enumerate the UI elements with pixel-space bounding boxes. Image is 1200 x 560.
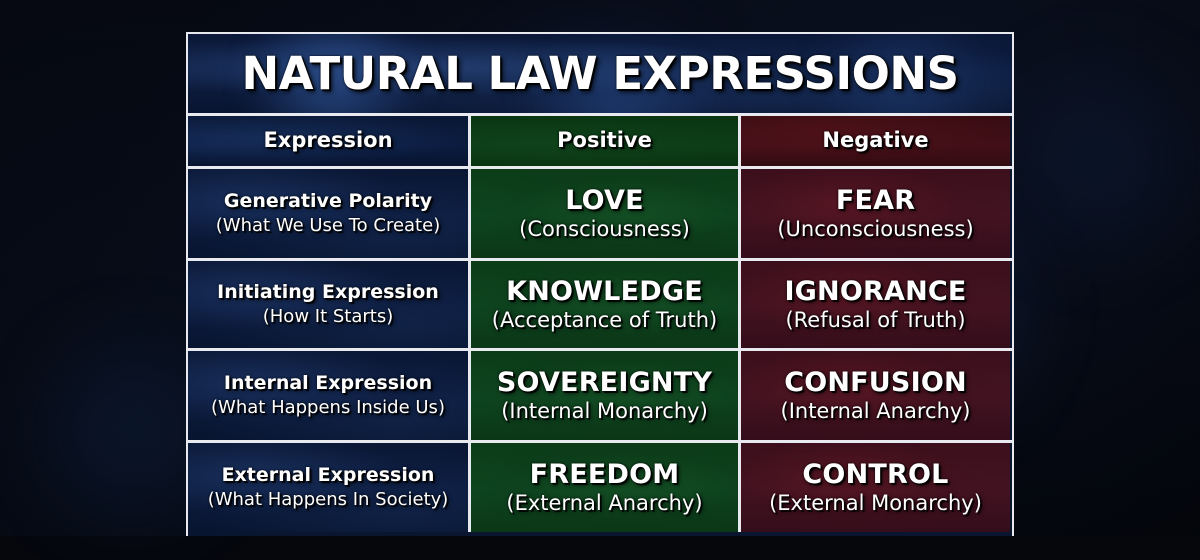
cell-expression: Generative Polarity (What We Use To Crea…: [188, 169, 468, 258]
expression-description: (What Happens Inside Us): [211, 398, 445, 418]
negative-term: CONFUSION: [784, 368, 967, 398]
column-header-expression: Expression: [188, 116, 468, 166]
table-row: Internal Expression (What Happens Inside…: [188, 348, 1012, 440]
table-header-row: Expression Positive Negative: [188, 116, 1012, 166]
negative-description: (Internal Anarchy): [781, 400, 971, 424]
cell-positive: FREEDOM (External Anarchy): [468, 443, 738, 532]
negative-description: (Unconsciousness): [777, 218, 973, 242]
positive-description: (External Anarchy): [506, 492, 702, 516]
expression-name: Internal Expression: [224, 373, 432, 394]
table-row: Generative Polarity (What We Use To Crea…: [188, 166, 1012, 258]
column-header-negative: Negative: [738, 116, 1010, 166]
cell-positive: KNOWLEDGE (Acceptance of Truth): [468, 261, 738, 348]
page-title: NATURAL LAW EXPRESSIONS: [241, 47, 958, 100]
expression-name: Initiating Expression: [217, 282, 439, 303]
cell-expression: External Expression (What Happens In Soc…: [188, 443, 468, 532]
cell-positive: SOVEREIGNTY (Internal Monarchy): [468, 351, 738, 440]
expression-name: External Expression: [222, 465, 435, 486]
table-row: Initiating Expression (How It Starts) KN…: [188, 258, 1012, 348]
positive-term: KNOWLEDGE: [506, 277, 703, 307]
expression-description: (How It Starts): [263, 307, 393, 327]
cell-negative: CONFUSION (Internal Anarchy): [738, 351, 1010, 440]
natural-law-table: NATURAL LAW EXPRESSIONS Expression Posit…: [186, 32, 1014, 536]
column-header-expression-label: Expression: [263, 129, 392, 153]
negative-description: (External Monarchy): [769, 492, 982, 516]
positive-term: SOVEREIGNTY: [497, 368, 712, 398]
column-header-positive: Positive: [468, 116, 738, 166]
cell-negative: FEAR (Unconsciousness): [738, 169, 1010, 258]
expression-description: (What Happens In Society): [208, 490, 449, 510]
column-header-negative-label: Negative: [822, 129, 928, 153]
positive-term: FREEDOM: [530, 460, 680, 490]
positive-description: (Acceptance of Truth): [492, 309, 717, 333]
positive-description: (Internal Monarchy): [501, 400, 708, 424]
negative-term: FEAR: [836, 186, 915, 216]
column-header-positive-label: Positive: [557, 129, 652, 153]
positive-description: (Consciousness): [519, 218, 690, 242]
negative-term: IGNORANCE: [784, 277, 966, 307]
table-row: External Expression (What Happens In Soc…: [188, 440, 1012, 532]
cell-expression: Initiating Expression (How It Starts): [188, 261, 468, 348]
expression-description: (What We Use To Create): [216, 216, 440, 236]
positive-term: LOVE: [565, 186, 644, 216]
cell-expression: Internal Expression (What Happens Inside…: [188, 351, 468, 440]
cell-negative: IGNORANCE (Refusal of Truth): [738, 261, 1010, 348]
table-title-bar: NATURAL LAW EXPRESSIONS: [188, 34, 1012, 116]
negative-description: (Refusal of Truth): [785, 309, 965, 333]
expression-name: Generative Polarity: [224, 191, 432, 212]
cell-negative: CONTROL (External Monarchy): [738, 443, 1010, 532]
negative-term: CONTROL: [802, 460, 948, 490]
cell-positive: LOVE (Consciousness): [468, 169, 738, 258]
